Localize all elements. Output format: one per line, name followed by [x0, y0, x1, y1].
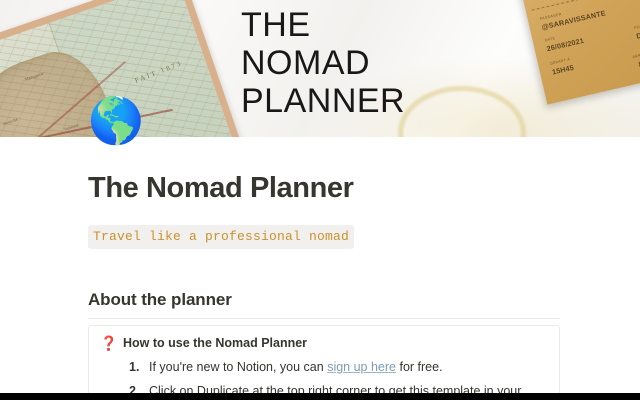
page-body: The Nomad Planner Travel like a professi… — [0, 137, 640, 400]
notion-page-screen: Madagascar Nossi-Bé Tamatave B A I E FAI… — [0, 0, 640, 400]
globe-icon[interactable]: 🌎 — [88, 96, 138, 146]
section-heading-about[interactable]: About the planner — [88, 290, 560, 310]
ticket-gate-label: PORTE — [634, 24, 640, 31]
callout-body: How to use the Nomad Planner If you're n… — [123, 335, 545, 400]
page-title[interactable]: The Nomad Planner — [88, 172, 560, 205]
question-mark-icon: ❓ — [100, 335, 114, 352]
cover-title-text: THE NOMAD PLANNER — [241, 6, 541, 120]
list-item: If you're new to Notion, you can sign up… — [123, 358, 545, 377]
page-content-column: The Nomad Planner Travel like a professi… — [88, 137, 560, 400]
viewport-bottom-bar — [0, 393, 640, 400]
page-caption-row: Travel like a professional nomad — [88, 225, 560, 249]
list-item-text-before: If you're new to Notion, you can — [149, 360, 327, 374]
ticket-arrive-label: ARRIVÉE À — [632, 51, 640, 60]
list-item-text-after: for free. — [396, 360, 443, 374]
ticket-route-sub: PARIS CDG — [537, 0, 560, 1]
callout-title: How to use the Nomad Planner — [123, 335, 545, 352]
section-divider — [88, 318, 560, 319]
caption-code-text: Travel like a professional nomad — [88, 225, 354, 249]
ticket-passenger-value: @SARAVISSANTE — [541, 9, 606, 31]
signup-link[interactable]: sign up here — [327, 360, 396, 374]
ticket-perforation — [532, 0, 640, 11]
ticket-gate-value: D24 — [636, 30, 640, 40]
callout-block[interactable]: ❓ How to use the Nomad Planner If you're… — [88, 325, 560, 400]
